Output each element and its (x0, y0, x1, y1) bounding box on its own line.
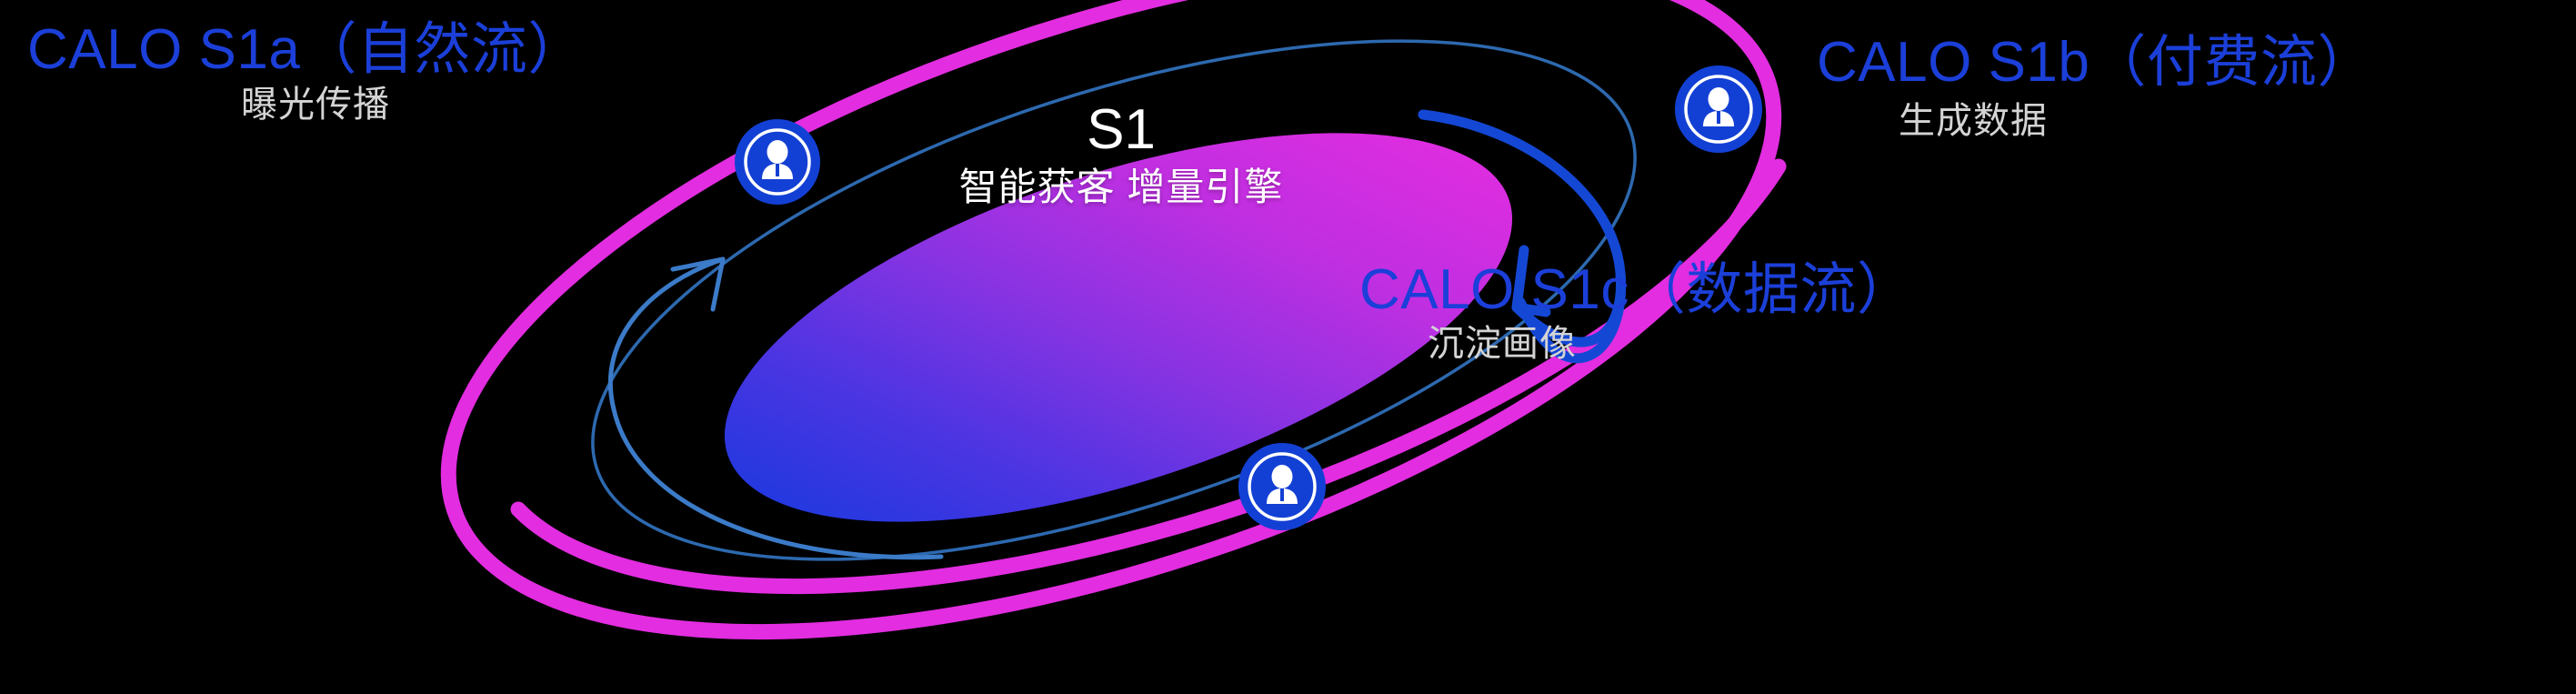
badge-s1a[interactable] (735, 119, 820, 205)
diagram-canvas: CALO S1a（自然流） 曝光传播 CALO S1b（付费流） 生成数据 CA… (0, 0, 2576, 694)
badge-s1c[interactable] (1238, 443, 1326, 530)
core-gradient-ellipse (680, 54, 1558, 602)
diagram-graphics (0, 0, 2576, 694)
badge-s1b[interactable] (1675, 65, 1762, 153)
